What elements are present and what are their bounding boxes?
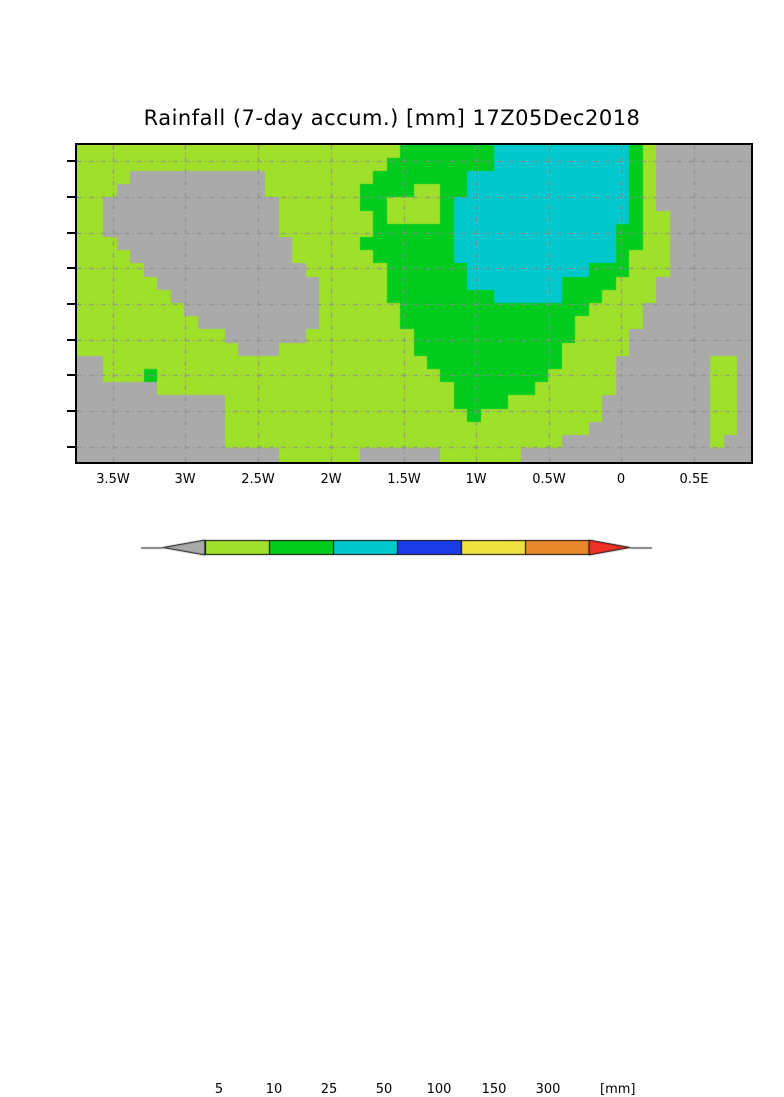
x-axis-tick-label: 3W	[174, 472, 195, 487]
y-axis-tick-mark	[67, 303, 75, 305]
map-plot-area[interactable]	[75, 143, 753, 464]
rainfall-map-figure: Rainfall (7-day accum.) [mm] 17Z05Dec201…	[0, 0, 784, 612]
map-gridlines-canvas	[77, 145, 751, 462]
x-axis-tick-label: 3.5W	[96, 472, 130, 487]
x-axis-tick-label: 2.5W	[241, 472, 275, 487]
colorbar-tick-label: 25	[321, 1082, 338, 1097]
x-axis-tick-label: 2W	[320, 472, 341, 487]
colorbar-tick-label: 150	[482, 1082, 507, 1097]
y-axis-tick-mark	[67, 160, 75, 162]
page-title: Rainfall (7-day accum.) [mm] 17Z05Dec201…	[0, 106, 784, 130]
colorbar-tick-label: 100	[427, 1082, 452, 1097]
colorbar-tick-label: 10	[266, 1082, 283, 1097]
y-axis-tick-mark	[67, 196, 75, 198]
y-axis-tick-mark	[67, 410, 75, 412]
y-axis-tick-mark	[67, 267, 75, 269]
colorbar-tick-label: 5	[215, 1082, 223, 1097]
colorbar[interactable]: 5102550100150300[mm]	[0, 528, 784, 588]
y-axis-tick-mark	[67, 339, 75, 341]
colorbar-units-label: [mm]	[600, 1082, 635, 1097]
y-axis-tick-mark	[67, 232, 75, 234]
x-axis-tick-label: 1.5W	[387, 472, 421, 487]
colorbar-tick-label: 300	[536, 1082, 561, 1097]
y-axis-tick-mark	[67, 374, 75, 376]
y-axis-tick-mark	[67, 446, 75, 448]
x-axis-tick-label: 1W	[465, 472, 486, 487]
x-axis-tick-label: 0.5W	[532, 472, 566, 487]
x-axis-tick-label: 0.5E	[680, 472, 709, 487]
colorbar-tick-label: 50	[376, 1082, 393, 1097]
colorbar-canvas	[0, 528, 784, 588]
x-axis-tick-label: 0	[617, 472, 625, 487]
